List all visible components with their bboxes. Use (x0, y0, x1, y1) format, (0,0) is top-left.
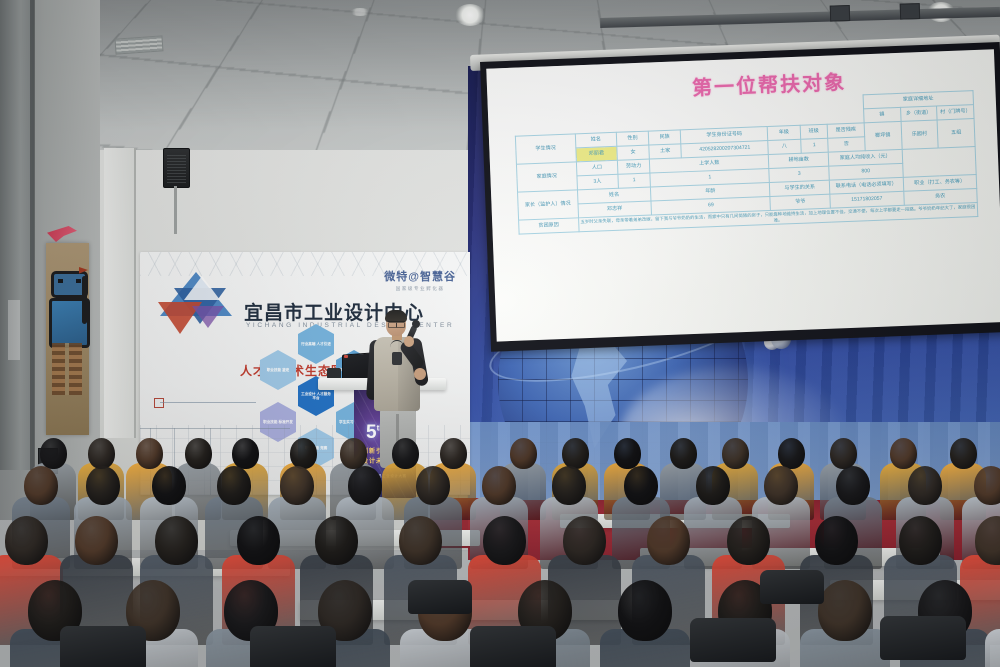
audience-person-head (155, 516, 198, 565)
audience-person-head (136, 438, 163, 469)
student-header-disabled: 是否残疾 (827, 123, 864, 138)
row-label-family: 家庭情况 (516, 162, 577, 192)
audience-chair (408, 580, 472, 614)
audience-person-head (562, 438, 589, 469)
address-header-town: 镇 (863, 107, 900, 122)
audience-person-head (727, 516, 770, 565)
address-header-village: 乡（街道） (900, 106, 937, 121)
audience-person-head (185, 438, 212, 469)
student-value-gender: 女 (617, 145, 650, 160)
audience-person-head (647, 516, 690, 565)
audience-person-head (75, 516, 118, 565)
audience-person-head (950, 438, 977, 469)
student-value-grade: 八 (768, 139, 801, 154)
ceiling-vent (115, 35, 164, 54)
audience-person-head (280, 466, 314, 505)
audience-person-head (399, 516, 442, 565)
presenter-hand (404, 336, 414, 347)
downlight-icon (455, 4, 485, 26)
pillar-edge (30, 0, 35, 470)
student-header-class: 班级 (800, 124, 828, 139)
family-value-labor: 1 (618, 173, 651, 188)
audience-person-head (40, 438, 67, 469)
robot-arm-icon (82, 276, 87, 324)
audience-person-head (696, 466, 730, 505)
student-value-class: 1 (800, 138, 828, 153)
audience-person-head (152, 466, 186, 505)
family-spacer (902, 147, 977, 178)
microphone-head-icon (412, 320, 420, 328)
wall-speaker-icon (163, 148, 190, 188)
banner-brand-logo: 微特@智慧谷 国家级专业孵化器 (384, 268, 456, 292)
student-header-ethnicity: 民族 (648, 130, 681, 145)
audience-person-torso (985, 629, 1000, 667)
student-header-grade: 年级 (768, 125, 801, 140)
audience-chair (760, 570, 824, 604)
banner-brand-tagline: 国家级专业孵化器 (384, 286, 456, 292)
family-header-labor: 劳动力 (617, 159, 650, 174)
address-header-house: 村（门牌号） (937, 105, 974, 120)
audience-person-head (552, 466, 586, 505)
row-label-student: 学生情况 (515, 134, 576, 164)
audience-chair (690, 618, 776, 662)
audience-person-head (24, 466, 58, 505)
presenter-hand-lower (414, 368, 426, 380)
presentation-room-photo: 宜昌市工业设计中心 YICHANG INDUSTRIAL DESIGN CENT… (0, 0, 1000, 667)
door-frame (104, 148, 136, 438)
audience-person-head (974, 466, 1000, 505)
audience-person-head (908, 466, 942, 505)
audience-person-head (348, 466, 382, 505)
design-center-logo (158, 272, 238, 342)
projection-screen: 第一位帮扶对象 家庭详细地址 镇 (486, 49, 1000, 341)
audience-person-head (290, 438, 317, 469)
audience-person-head (778, 438, 805, 469)
presenter-lanyard (390, 340, 404, 355)
audience-area (0, 430, 1000, 667)
audience-person-head (5, 516, 48, 565)
banner-connector-line (160, 402, 256, 403)
robot-legs-icon (52, 343, 82, 395)
address-value-town: 榔坪镇 (864, 121, 902, 150)
student-header-gender: 性别 (616, 131, 649, 146)
audience-person-head (86, 466, 120, 505)
audience-person-head (818, 580, 872, 641)
audience-person-head (232, 438, 259, 469)
audience-person-head (217, 466, 251, 505)
address-value-house: 五组 (937, 119, 975, 148)
audience-person-head (830, 438, 857, 469)
audience-chair (470, 626, 556, 667)
student-value-ethnicity: 土家 (649, 144, 682, 159)
audience-person-head (315, 516, 358, 565)
audience-chair (250, 626, 336, 667)
audience-person-head (670, 438, 697, 469)
audience-person-head (482, 466, 516, 505)
audience-person-head (440, 438, 467, 469)
audience-person-head (510, 438, 537, 469)
laptop-logo-icon (344, 355, 348, 358)
audience-person-head (483, 516, 526, 565)
audience-person-head (836, 466, 870, 505)
audience-person-head (899, 516, 942, 565)
audience-person-head (618, 580, 672, 641)
ecosystem-hexagon: 职业技能 鉴定 (260, 350, 296, 390)
address-value-village: 乐园村 (901, 120, 939, 149)
audience-person-head (88, 438, 115, 469)
audience-person-head (624, 466, 658, 505)
row-label-reason: 贫困原因 (519, 218, 579, 234)
audience-person-head (340, 438, 367, 469)
audience-person-head (614, 438, 641, 469)
glasses-icon (388, 321, 405, 326)
projection-screen-frame: 第一位帮扶对象 家庭详细地址 镇 (480, 42, 1000, 352)
slide-data-table: 家庭详细地址 镇 乡（街道） 村（门牌号） 学生情况 姓名 性别 民族 (514, 90, 979, 235)
banner-brand-name: 微特@智慧谷 (384, 268, 456, 284)
banner-marker (154, 398, 164, 408)
student-value-disabled: 否 (828, 137, 865, 152)
ecosystem-hexagon: 行业高端 人才引进 (298, 324, 334, 364)
speaker-mount-pole (174, 186, 177, 234)
row-label-guardian: 家长（监护人）情况 (518, 190, 579, 220)
audience-person-head (237, 516, 280, 565)
audience-person-head (722, 438, 749, 469)
audience-chair (60, 626, 146, 667)
audience-person-head (764, 466, 798, 505)
audience-person-head (563, 516, 606, 565)
audience-chair (880, 616, 966, 660)
wall-pillar (0, 0, 34, 470)
audience-person-head (815, 516, 858, 565)
robot-mural-board (46, 243, 89, 435)
audience-person-head (392, 438, 419, 469)
audience-person-head (890, 438, 917, 469)
downlight-icon (350, 8, 370, 16)
wall-light-strip (8, 300, 20, 360)
audience-person-head (416, 466, 450, 505)
